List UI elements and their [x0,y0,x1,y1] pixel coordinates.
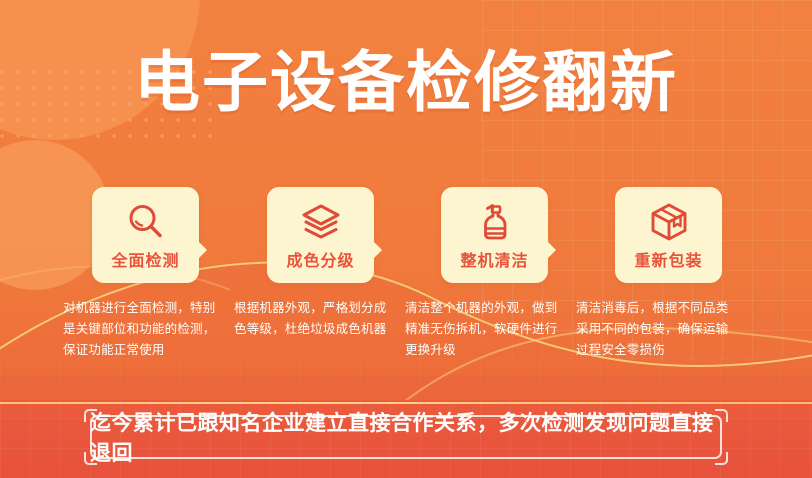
step-descriptions-row: 对机器进行全面检测，特别是关键部位和功能的检测，保证功能正常使用 根据机器外观，… [63,298,763,378]
step-description-repackaging: 清洁消毒后，根据不同品类采用不同的包装，确保运输过程安全零损伤 [576,298,733,361]
step-cards-row: 全面检测 成色分级 [92,187,722,283]
step-card-inspection[interactable]: 全面检测 [92,187,199,283]
bottom-banner: 迄今累计已跟知名企业建立直接合作关系，多次检测发现问题直接退回 [90,415,722,459]
step-description-grading: 根据机器外观，严格划分成色等级，杜绝垃圾成色机器 [234,298,391,340]
promo-poster: 电子设备检修翻新 全面检测 成色分级 [0,0,812,478]
step-card-repackaging[interactable]: 重新包装 [615,187,722,283]
title-container: 电子设备检修翻新 [0,46,812,120]
step-description-inspection: 对机器进行全面检测，特别是关键部位和功能的检测，保证功能正常使用 [63,298,220,361]
step-card-label: 重新包装 [615,252,722,272]
step-description-cleaning: 清洁整个机器的外观，做到精准无伤拆机，软硬件进行更换升级 [405,298,562,361]
step-card-cleaning[interactable]: 整机清洁 [441,187,548,283]
spray-bottle-icon [441,199,548,245]
step-card-label: 全面检测 [92,252,199,272]
card-pointer-notch [198,241,207,259]
step-card-grading[interactable]: 成色分级 [267,187,374,283]
page-title: 电子设备检修翻新 [134,46,678,120]
package-box-icon [615,199,722,245]
card-pointer-notch [373,241,382,259]
magnifier-icon [92,199,199,245]
step-card-label: 成色分级 [267,252,374,272]
banner-text: 迄今累计已跟知名企业建立直接合作关系，多次检测发现问题直接退回 [90,415,722,459]
step-card-label: 整机清洁 [441,252,548,272]
gold-divider-line [0,402,812,404]
layers-icon [267,199,374,245]
card-pointer-notch [547,241,556,259]
